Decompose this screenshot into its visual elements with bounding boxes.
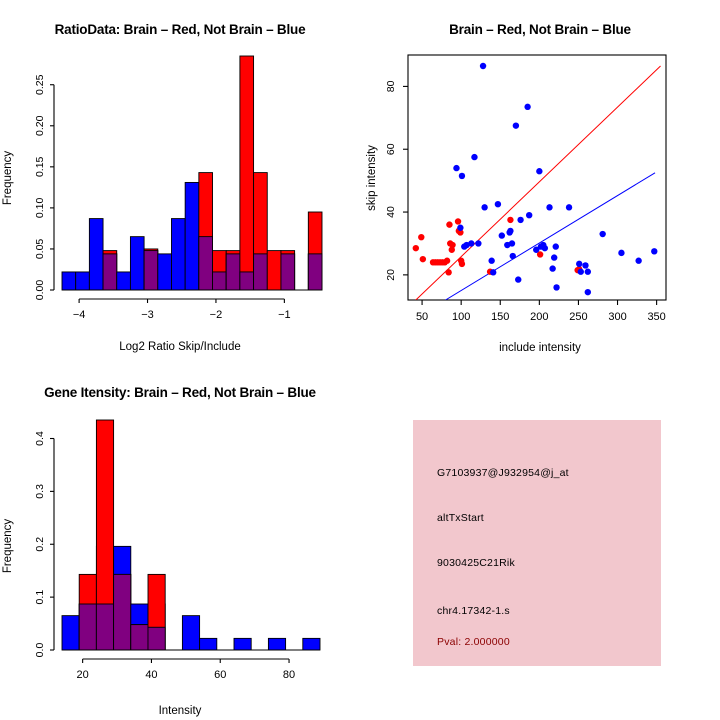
scatter-point bbox=[566, 204, 572, 210]
x-axis: −4−3−2−1 bbox=[62, 290, 322, 321]
y-tick-label: 0.2 bbox=[34, 537, 46, 552]
histogram-bar-blue bbox=[182, 616, 199, 650]
panel-scatter: Brain – Red, Not Brain – Blue skip inten… bbox=[360, 0, 720, 360]
scatter-point bbox=[488, 258, 494, 264]
histogram-bar-blue bbox=[171, 219, 185, 290]
x-axis: 20406080 bbox=[62, 650, 320, 681]
x-axis: 50100150200250300350 bbox=[416, 300, 666, 323]
y-tick-label: 0.20 bbox=[34, 115, 46, 136]
scatter-point bbox=[585, 289, 591, 295]
x-tick-label: 50 bbox=[416, 311, 428, 323]
gene-hist-xlabel: Intensity bbox=[0, 705, 360, 717]
x-tick-label: −1 bbox=[278, 309, 291, 321]
histogram-bar-red bbox=[267, 251, 281, 290]
histogram-bar-blue bbox=[303, 638, 320, 650]
histogram-bar-blue bbox=[158, 254, 172, 290]
scatter-point bbox=[546, 204, 552, 210]
y-tick-label: 60 bbox=[385, 143, 397, 155]
histogram-bar-blue bbox=[268, 638, 285, 650]
scatter-point bbox=[510, 253, 516, 259]
scatter-point bbox=[481, 204, 487, 210]
x-tick-label: 150 bbox=[491, 311, 509, 323]
histogram-bar-overlap bbox=[103, 254, 117, 290]
histogram-bar-overlap bbox=[308, 254, 322, 290]
y-tick-label: 0.1 bbox=[34, 590, 46, 605]
scatter-point bbox=[517, 217, 523, 223]
scatter-point bbox=[576, 261, 582, 267]
scatter-point bbox=[444, 258, 450, 264]
x-tick-label: −2 bbox=[210, 309, 223, 321]
scatter-point bbox=[475, 240, 481, 246]
histogram-bar-overlap bbox=[281, 254, 295, 290]
scatter-point bbox=[453, 165, 459, 171]
scatter-point bbox=[418, 234, 424, 240]
histogram-bar-blue bbox=[89, 219, 103, 290]
ratio-hist-plot-area: 0.000.050.100.150.200.25−4−3−2−1 bbox=[0, 12, 360, 332]
ratio-hist-xlabel: Log2 Ratio Skip/Include bbox=[0, 341, 360, 353]
scatter-point bbox=[542, 245, 548, 251]
histogram-bar-overlap bbox=[148, 627, 165, 650]
scatter-point bbox=[553, 284, 559, 290]
y-tick-label: 80 bbox=[385, 80, 397, 92]
scatter-point bbox=[578, 269, 584, 275]
histogram-bar-blue bbox=[234, 638, 251, 650]
histogram-bar-overlap bbox=[144, 251, 158, 290]
scatter-point bbox=[459, 173, 465, 179]
event-type: altTxStart bbox=[437, 512, 484, 524]
scatter-point bbox=[551, 254, 557, 260]
x-tick-label: 40 bbox=[145, 669, 157, 681]
scatter-point bbox=[446, 221, 452, 227]
scatter-xlabel: include intensity bbox=[360, 342, 720, 354]
y-axis: 0.00.10.20.30.4 bbox=[34, 431, 54, 657]
x-tick-label: 200 bbox=[530, 311, 548, 323]
y-tick-label: 20 bbox=[385, 269, 397, 281]
scatter-point bbox=[549, 265, 555, 271]
scatter-point bbox=[445, 269, 451, 275]
y-tick-label: 0.25 bbox=[34, 74, 46, 95]
scatter-point bbox=[536, 168, 542, 174]
scatter-point bbox=[468, 240, 474, 246]
scatter-point bbox=[457, 225, 463, 231]
probe-id: G7103937@J932954@j_at bbox=[437, 467, 569, 479]
histogram-bar-blue bbox=[62, 272, 76, 290]
scatter-point bbox=[471, 154, 477, 160]
histogram-bar-overlap bbox=[226, 254, 240, 290]
scatter-point bbox=[490, 269, 496, 275]
scatter-point bbox=[449, 242, 455, 248]
histogram-bar-red bbox=[240, 56, 254, 290]
histogram-bar-overlap bbox=[213, 272, 227, 290]
scatter-point bbox=[455, 218, 461, 224]
scatter-point bbox=[495, 201, 501, 207]
scatter-point bbox=[651, 248, 657, 254]
x-tick-label: 60 bbox=[214, 669, 226, 681]
panel-gene-histogram: Gene Itensity: Brain – Red, Not Brain – … bbox=[0, 360, 360, 720]
y-tick-label: 0.0 bbox=[34, 643, 46, 658]
y-tick-label: 0.15 bbox=[34, 156, 46, 177]
blue-reference-line bbox=[446, 173, 656, 300]
scatter-point bbox=[458, 258, 464, 264]
histogram-bar-blue bbox=[200, 638, 217, 650]
scatter-point bbox=[599, 231, 605, 237]
x-tick-label: 350 bbox=[647, 311, 665, 323]
y-tick-label: 40 bbox=[385, 206, 397, 218]
histogram-bar-overlap bbox=[114, 574, 131, 650]
histogram-bar-blue bbox=[76, 272, 90, 290]
gene-symbol: 9030425C21Rik bbox=[437, 557, 515, 569]
gene-hist-plot-area: 0.00.10.20.30.420406080 bbox=[0, 378, 360, 698]
scatter-point bbox=[635, 258, 641, 264]
scatter-point bbox=[513, 122, 519, 128]
locus-id: chr4.17342-1.s bbox=[437, 605, 510, 617]
y-tick-label: 0.00 bbox=[34, 280, 46, 301]
scatter-point bbox=[553, 243, 559, 249]
histogram-bar-blue bbox=[62, 616, 79, 650]
scatter-point bbox=[524, 104, 530, 110]
histogram-bar-overlap bbox=[199, 237, 213, 290]
panel-ratio-histogram: RatioData: Brain – Red, Not Brain – Blue… bbox=[0, 0, 360, 360]
x-tick-label: 300 bbox=[608, 311, 626, 323]
histogram-bar-blue bbox=[185, 182, 199, 290]
y-tick-label: 0.4 bbox=[34, 431, 46, 446]
scatter-point bbox=[509, 240, 515, 246]
y-tick-label: 0.10 bbox=[34, 198, 46, 219]
histogram-bar-overlap bbox=[254, 254, 268, 290]
x-tick-label: −4 bbox=[73, 309, 86, 321]
scatter-point bbox=[526, 212, 532, 218]
histogram-bar-overlap bbox=[131, 625, 148, 650]
x-tick-label: 100 bbox=[452, 311, 470, 323]
x-tick-label: 250 bbox=[569, 311, 587, 323]
x-tick-label: 20 bbox=[77, 669, 89, 681]
figure-canvas: RatioData: Brain – Red, Not Brain – Blue… bbox=[0, 0, 720, 720]
scatter-point bbox=[507, 228, 513, 234]
y-axis: 20406080 bbox=[385, 80, 408, 280]
scatter-point bbox=[585, 269, 591, 275]
x-tick-label: −3 bbox=[141, 309, 154, 321]
pvalue: Pval: 2.000000 bbox=[437, 636, 510, 648]
histogram-bar-overlap bbox=[240, 272, 254, 290]
x-tick-label: 80 bbox=[283, 669, 295, 681]
scatter-point bbox=[618, 250, 624, 256]
histogram-bar-blue bbox=[117, 272, 131, 290]
scatter-point bbox=[413, 245, 419, 251]
y-tick-label: 0.05 bbox=[34, 239, 46, 260]
histogram-bar-overlap bbox=[79, 604, 96, 650]
scatter-plot-area: 2040608050100150200250300350 bbox=[360, 12, 720, 332]
scatter-point bbox=[480, 63, 486, 69]
histogram-bar-overlap bbox=[96, 604, 113, 650]
panel-info-box: G7103937@J932954@j_ataltTxStart9030425C2… bbox=[413, 420, 661, 666]
scatter-point bbox=[507, 217, 513, 223]
scatter-point bbox=[420, 256, 426, 262]
y-axis: 0.000.050.100.150.200.25 bbox=[34, 74, 54, 300]
red-reference-line bbox=[416, 66, 661, 300]
scatter-point bbox=[515, 276, 521, 282]
histogram-bar-blue bbox=[130, 237, 144, 290]
scatter-point bbox=[582, 262, 588, 268]
scatter-point bbox=[499, 232, 505, 238]
y-tick-label: 0.3 bbox=[34, 484, 46, 499]
